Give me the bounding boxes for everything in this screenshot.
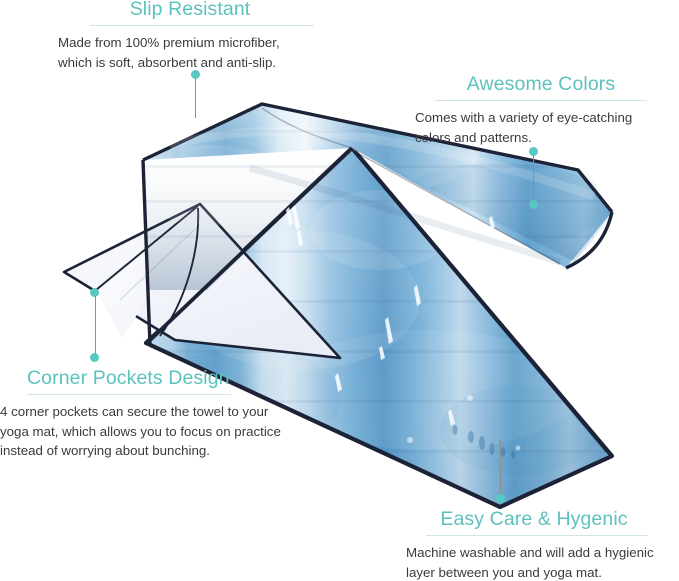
callout-body-slip-resistant: Made from 100% premium microfiber, which… [58, 33, 322, 72]
leader-dot-colors-end [529, 200, 538, 209]
towel-corner-pocket [64, 204, 340, 358]
callout-divider-awesome-colors [435, 100, 647, 101]
leader-line-slip [195, 78, 196, 118]
callout-title-easy-care: Easy Care & Hygenic [400, 509, 668, 530]
leader-line-colors [533, 155, 534, 203]
infographic-canvas: Slip Resistant Made from 100% premium mi… [0, 0, 679, 581]
callout-divider-easy-care [426, 535, 648, 536]
callout-body-corner-pockets: 4 corner pockets can secure the towel to… [0, 402, 322, 461]
callout-slip-resistant: Slip Resistant Made from 100% premium mi… [58, 0, 322, 72]
callout-title-corner-pockets: Corner Pockets Design [0, 368, 322, 389]
callout-awesome-colors: Awesome Colors Comes with a variety of e… [415, 74, 667, 147]
callout-title-slip-resistant: Slip Resistant [58, 0, 322, 20]
callout-body-awesome-colors: Comes with a variety of eye-catching col… [415, 108, 667, 147]
callout-title-awesome-colors: Awesome Colors [415, 74, 667, 95]
leader-line-care-upper [500, 440, 501, 466]
leader-dot-care [496, 494, 505, 503]
callout-easy-care: Easy Care & Hygenic Machine washable and… [400, 509, 668, 581]
callout-divider-slip-resistant [90, 25, 314, 26]
leader-dot-pockets-end [90, 353, 99, 362]
callout-divider-corner-pockets [27, 394, 231, 395]
leader-line-pockets [95, 296, 96, 356]
callout-corner-pockets: Corner Pockets Design 4 corner pockets c… [0, 368, 322, 461]
towel-texture-flecks [286, 207, 495, 229]
callout-body-easy-care: Machine washable and will add a hygienic… [400, 543, 668, 581]
